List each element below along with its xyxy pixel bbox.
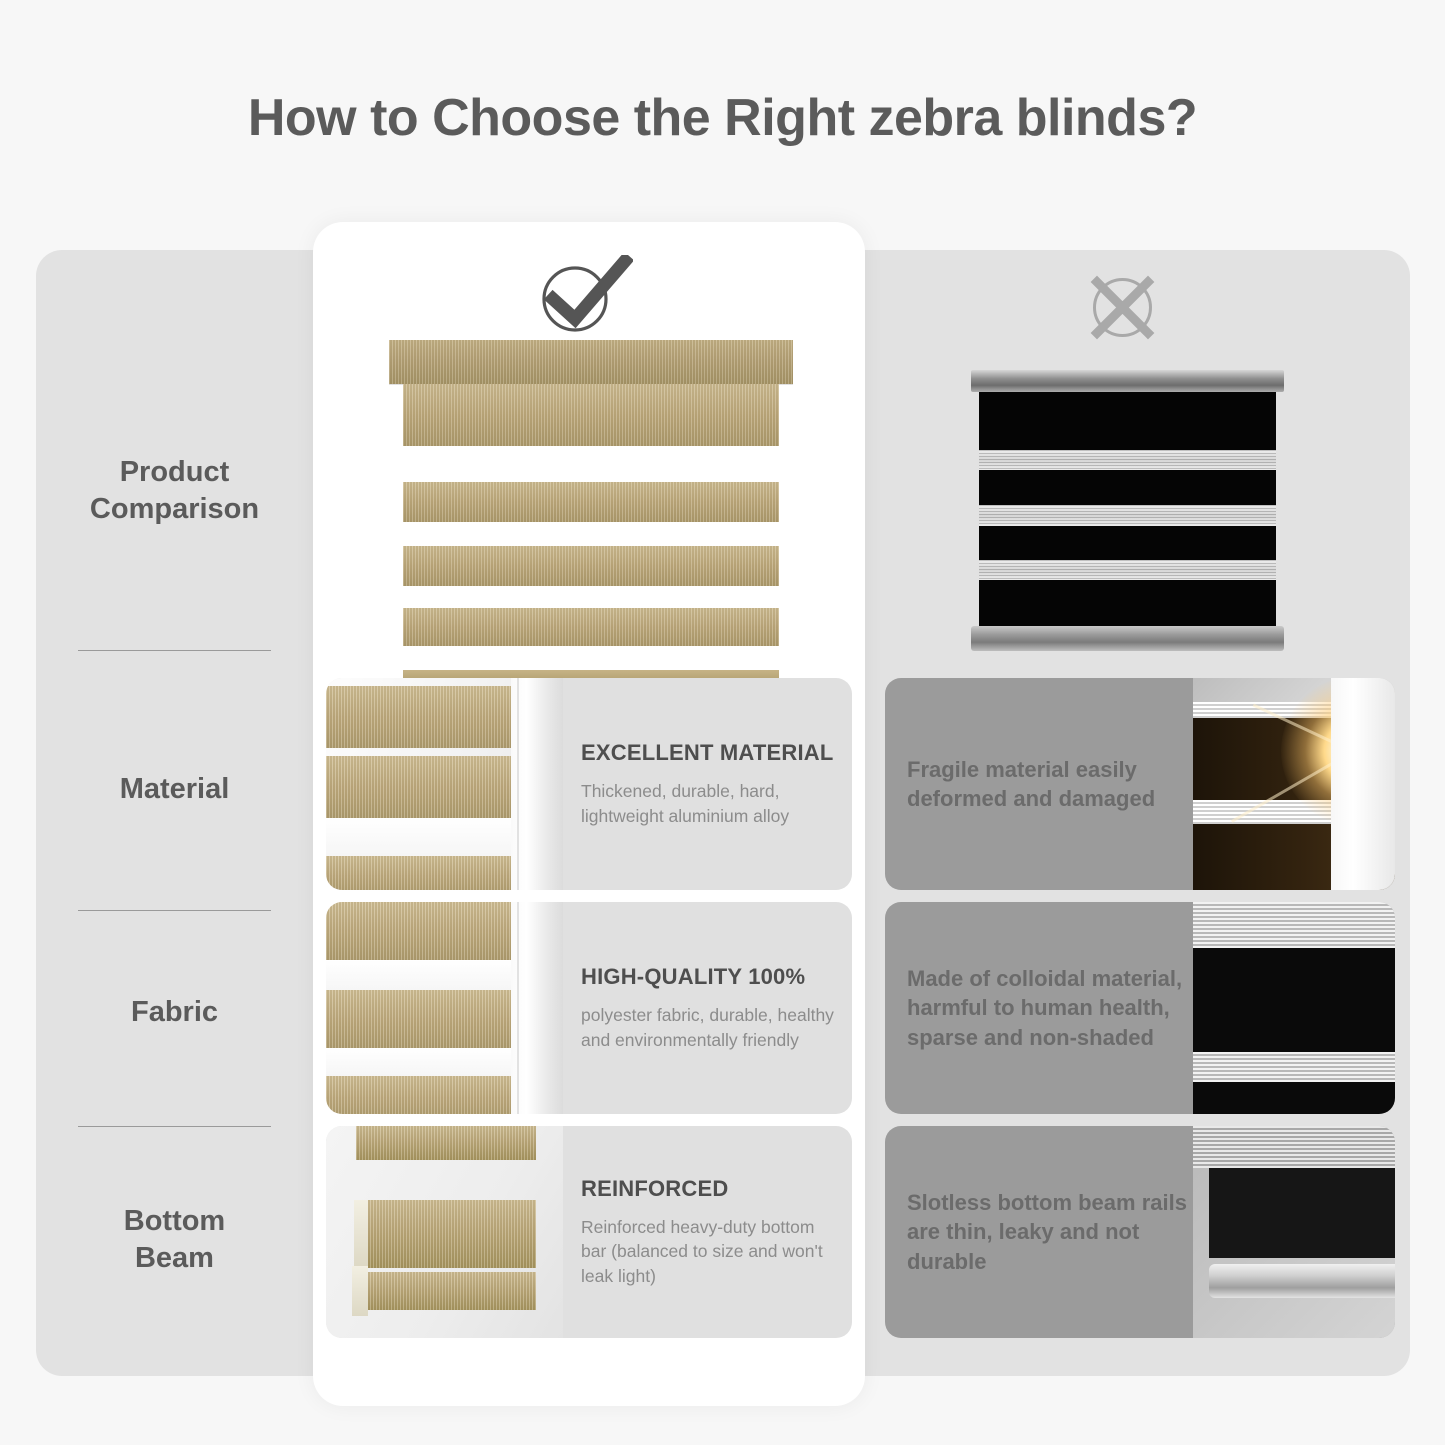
feature-body: Reinforced heavy-duty bottom bar (balanc… bbox=[581, 1215, 834, 1287]
feature-card-bottom-beam: REINFORCED Reinforced heavy-duty bottom … bbox=[326, 1126, 852, 1338]
sidebar-label: Product Comparison bbox=[90, 454, 259, 528]
sidebar: Product Comparison Material Fabric Botto… bbox=[36, 250, 313, 1376]
sidebar-divider bbox=[78, 910, 271, 911]
feature-photo bbox=[326, 902, 563, 1114]
feature-card-material: EXCELLENT MATERIAL Thickened, durable, h… bbox=[326, 678, 852, 890]
negative-card-bottom-beam: Slotless bottom beam rails are thin, lea… bbox=[885, 1126, 1395, 1338]
feature-text: HIGH-QUALITY 100% polyester fabric, dura… bbox=[563, 902, 852, 1114]
sidebar-label: Bottom Beam bbox=[124, 1203, 225, 1277]
negative-body: Fragile material easily deformed and dam… bbox=[907, 755, 1193, 814]
headrail bbox=[971, 370, 1284, 392]
feature-body: Thickened, durable, hard, lightweight al… bbox=[581, 779, 834, 827]
sidebar-label: Material bbox=[120, 771, 230, 808]
feature-body: polyester fabric, durable, healthy and e… bbox=[581, 1003, 834, 1051]
negative-body: Slotless bottom beam rails are thin, lea… bbox=[907, 1188, 1193, 1276]
feature-photo bbox=[326, 1126, 563, 1338]
negative-card-material: Fragile material easily deformed and dam… bbox=[885, 678, 1395, 890]
sidebar-divider bbox=[78, 1126, 271, 1127]
sidebar-label: Fabric bbox=[131, 994, 218, 1031]
feature-text: EXCELLENT MATERIAL Thickened, durable, h… bbox=[563, 678, 852, 890]
sidebar-item-bottom-beam: Bottom Beam bbox=[36, 1185, 313, 1295]
cross-circle-icon bbox=[1085, 270, 1160, 345]
feature-card-fabric: HIGH-QUALITY 100% polyester fabric, dura… bbox=[326, 902, 852, 1114]
negative-text: Made of colloidal material, harmful to h… bbox=[885, 902, 1193, 1114]
sidebar-item-material: Material bbox=[36, 765, 313, 815]
blind-slat bbox=[403, 482, 779, 522]
bottom-rail bbox=[971, 626, 1284, 651]
feature-heading: REINFORCED bbox=[581, 1176, 834, 1202]
negative-card-fabric: Made of colloidal material, harmful to h… bbox=[885, 902, 1395, 1114]
negative-photo bbox=[1193, 1126, 1395, 1338]
feature-heading: HIGH-QUALITY 100% bbox=[581, 964, 834, 990]
sidebar-item-product-comparison: Product Comparison bbox=[36, 436, 313, 546]
negative-text: Slotless bottom beam rails are thin, lea… bbox=[885, 1126, 1193, 1338]
negative-text: Fragile material easily deformed and dam… bbox=[885, 678, 1193, 890]
negative-body: Made of colloidal material, harmful to h… bbox=[907, 964, 1193, 1052]
light-band bbox=[979, 560, 1276, 580]
infographic-root: How to Choose the Right zebra blinds? Pr… bbox=[0, 0, 1445, 1445]
sidebar-divider bbox=[78, 650, 271, 651]
check-circle-icon bbox=[533, 255, 633, 335]
sidebar-item-fabric: Fabric bbox=[36, 988, 313, 1038]
blind-slat bbox=[403, 546, 779, 586]
light-band bbox=[979, 450, 1276, 470]
feature-text: REINFORCED Reinforced heavy-duty bottom … bbox=[563, 1126, 852, 1338]
page-title: How to Choose the Right zebra blinds? bbox=[0, 88, 1445, 148]
feature-photo bbox=[326, 678, 563, 890]
light-band bbox=[979, 505, 1276, 526]
hero-beige-blind bbox=[389, 340, 793, 662]
negative-photo bbox=[1193, 678, 1395, 890]
blind-slat bbox=[403, 608, 779, 646]
feature-heading: EXCELLENT MATERIAL bbox=[581, 740, 834, 766]
hero-black-blind bbox=[971, 370, 1284, 651]
blind-body bbox=[979, 392, 1276, 626]
negative-photo bbox=[1193, 902, 1395, 1114]
blind-slat bbox=[403, 384, 779, 446]
headrail bbox=[389, 340, 793, 384]
